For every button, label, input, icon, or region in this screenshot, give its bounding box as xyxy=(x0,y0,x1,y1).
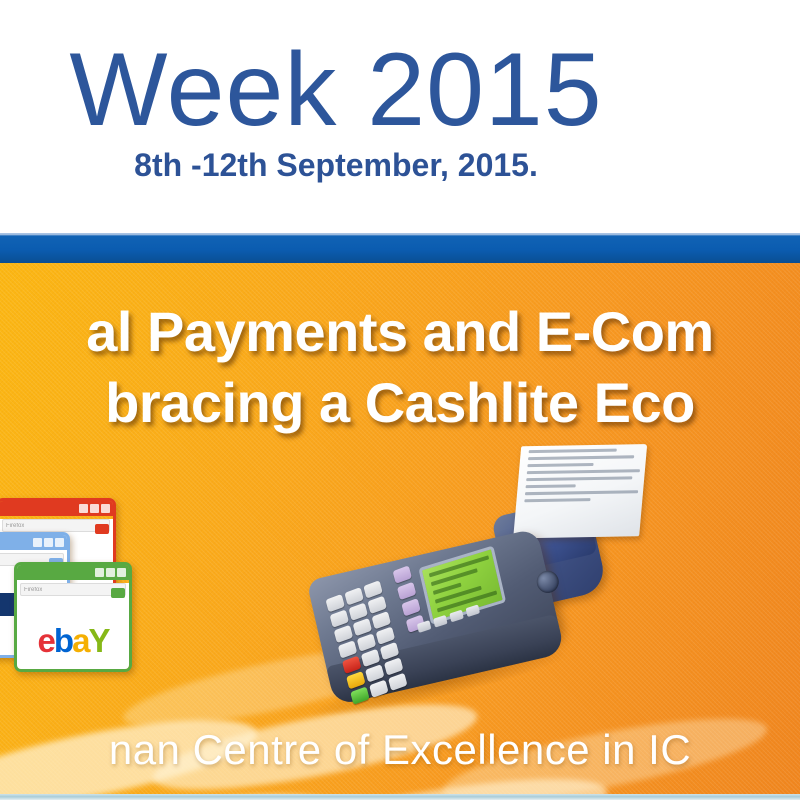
address-bar: Firefox xyxy=(2,519,110,532)
browser-window-stack: Firefox xyxy=(0,498,142,673)
ebay-letter-a: a xyxy=(72,622,88,659)
bottom-strip xyxy=(0,794,800,800)
address-text: Firefox xyxy=(6,523,24,529)
close-icon xyxy=(117,568,126,577)
receipt-line xyxy=(526,476,632,481)
window-content: ebaY xyxy=(17,602,129,672)
minimize-icon xyxy=(33,538,42,547)
minimize-icon xyxy=(95,568,104,577)
close-icon xyxy=(101,504,110,513)
ebay-letter-e: e xyxy=(38,622,54,659)
receipt-line xyxy=(527,469,641,474)
maximize-icon xyxy=(90,504,99,513)
ebay-letter-y: Y xyxy=(88,622,108,659)
go-button-icon xyxy=(95,524,109,534)
receipt-line xyxy=(529,449,617,454)
maximize-icon xyxy=(44,538,53,547)
receipt-paper xyxy=(513,444,647,538)
keypad-key-enter xyxy=(350,686,369,704)
header-block: Week 2015 8th -12th September, 2015. xyxy=(0,0,800,233)
window-body: Firefox ebaY xyxy=(17,583,129,672)
ebay-logo: ebaY xyxy=(38,624,109,657)
ebay-letter-b: b xyxy=(54,622,72,659)
event-dates: 8th -12th September, 2015. xyxy=(0,146,676,184)
swoosh-shape xyxy=(438,702,772,794)
terminal-rotation-group xyxy=(279,452,641,743)
receipt-line xyxy=(524,498,590,502)
go-button-icon xyxy=(111,588,125,598)
blue-divider-bar xyxy=(0,233,800,263)
window-titlebar xyxy=(0,501,113,516)
function-key xyxy=(401,598,420,616)
address-text: Firefox xyxy=(24,587,42,593)
receipt-line xyxy=(526,484,577,488)
function-key xyxy=(397,582,416,600)
window-titlebar xyxy=(0,535,67,550)
receipt-line xyxy=(525,490,639,495)
maximize-icon xyxy=(106,568,115,577)
receipt-line xyxy=(527,463,593,467)
browser-window-ebay: Firefox ebaY xyxy=(14,562,132,672)
keypad-key xyxy=(369,680,388,698)
minimize-icon xyxy=(79,504,88,513)
receipt-line xyxy=(528,455,634,460)
banner-page: Week 2015 8th -12th September, 2015. al … xyxy=(0,0,800,800)
pos-terminal xyxy=(300,485,620,710)
window-titlebar xyxy=(17,565,129,580)
page-title: Week 2015 xyxy=(0,36,676,144)
close-icon xyxy=(55,538,64,547)
